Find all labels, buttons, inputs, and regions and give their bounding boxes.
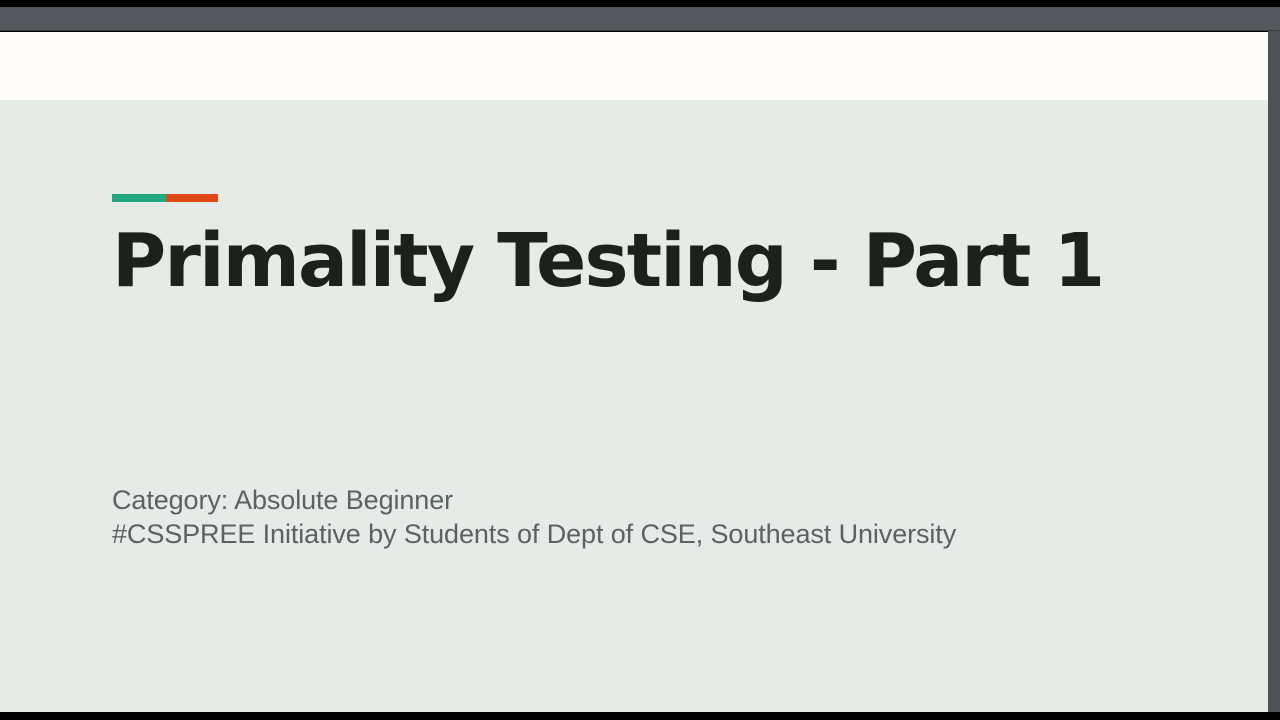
slide-viewer: Primality Testing - Part 1 Category: Abs… — [0, 0, 1280, 720]
accent-bar-segment-teal — [112, 194, 166, 202]
presentation-slide[interactable]: Primality Testing - Part 1 Category: Abs… — [0, 100, 1268, 712]
accent-bar-segment-orange — [166, 194, 218, 202]
title-accent-bar — [112, 194, 218, 202]
slide-subtitle-block: Category: Absolute Beginner #CSSPREE Ini… — [112, 483, 1212, 551]
viewer-content-band — [0, 32, 1268, 100]
slide-title: Primality Testing - Part 1 — [112, 222, 1212, 302]
subtitle-line-attribution: #CSSPREE Initiative by Students of Dept … — [112, 517, 1212, 551]
viewer-toolbar[interactable] — [0, 7, 1280, 31]
subtitle-line-category: Category: Absolute Beginner — [112, 483, 1212, 517]
top-frame-strip — [0, 0, 1280, 7]
bottom-frame-strip — [0, 712, 1280, 720]
right-frame-strip — [1268, 31, 1280, 712]
